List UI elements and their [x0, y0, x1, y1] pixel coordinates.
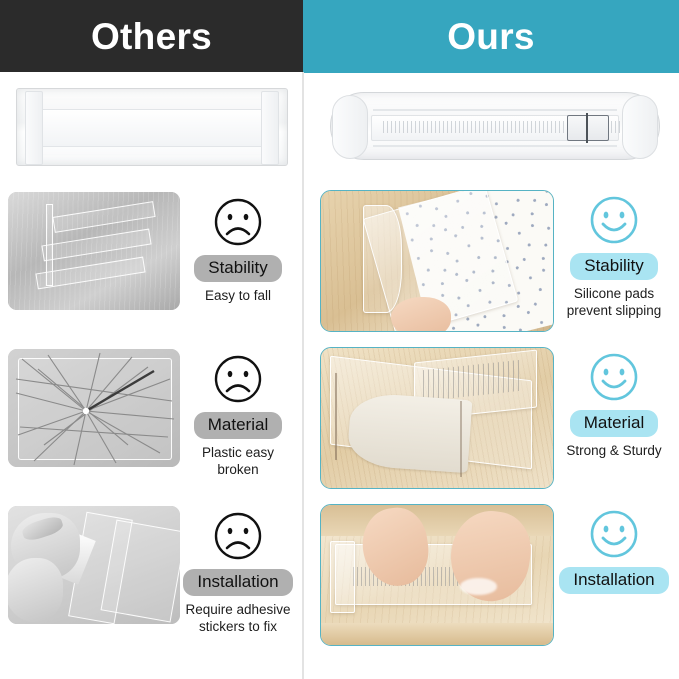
sad-face-icon	[212, 196, 264, 248]
ours-material-badge: Material	[570, 410, 658, 437]
sad-face-icon	[212, 353, 264, 405]
others-material-badge: Material	[194, 412, 282, 439]
comparison-infographic: Others Ours	[0, 0, 679, 679]
smiley-face-icon	[588, 508, 640, 560]
others-installation-desc: Require adhesive stickers to fix	[176, 601, 300, 636]
others-installation-info: Installation Require adhesive stickers t…	[176, 510, 300, 635]
header-others-panel: Others	[0, 0, 303, 72]
comparison-header: Others Ours	[0, 0, 679, 72]
ours-stability-photo	[320, 190, 554, 332]
others-stability-desc: Easy to fall	[176, 287, 300, 304]
header-ours-panel: Ours	[303, 0, 679, 72]
ours-material-photo	[320, 347, 554, 489]
ours-installation-info: Installation	[552, 508, 676, 599]
crack-pattern-icon	[8, 349, 180, 467]
header-others-title: Others	[91, 18, 212, 55]
others-stability-photo	[8, 192, 180, 310]
hero-ours-product-image	[330, 92, 660, 160]
smiley-face-icon	[588, 351, 640, 403]
ours-stability-info: Stability Silicone pads prevent slipping	[549, 194, 679, 319]
ours-installation-photo	[320, 504, 554, 646]
others-material-info: Material Plastic easy broken	[176, 353, 300, 478]
ours-stability-badge: Stability	[570, 253, 658, 280]
others-stability-badge: Stability	[194, 255, 282, 282]
sad-face-icon	[212, 510, 264, 562]
header-accent-underline	[303, 70, 679, 73]
others-stability-info: Stability Easy to fall	[176, 196, 300, 304]
others-installation-badge: Installation	[183, 569, 292, 596]
ours-material-desc: Strong & Sturdy	[549, 442, 679, 459]
divider-lock-mechanism	[567, 115, 609, 141]
others-installation-photo	[8, 506, 180, 624]
comparison-row-material: Material Plastic easy broken Material	[0, 345, 679, 502]
smiley-face-icon	[588, 194, 640, 246]
ours-installation-badge: Installation	[559, 567, 668, 594]
comparison-row-installation: Installation Require adhesive stickers t…	[0, 502, 679, 659]
ours-material-info: Material Strong & Sturdy	[549, 351, 679, 459]
ours-stability-desc: Silicone pads prevent slipping	[549, 285, 679, 320]
comparison-row-stability: Stability Easy to fall Stability Silicon…	[0, 188, 679, 345]
others-material-desc: Plastic easy broken	[176, 444, 300, 479]
header-ours-title: Ours	[447, 18, 535, 55]
others-material-photo	[8, 349, 180, 467]
hero-others-product-image	[16, 88, 288, 166]
